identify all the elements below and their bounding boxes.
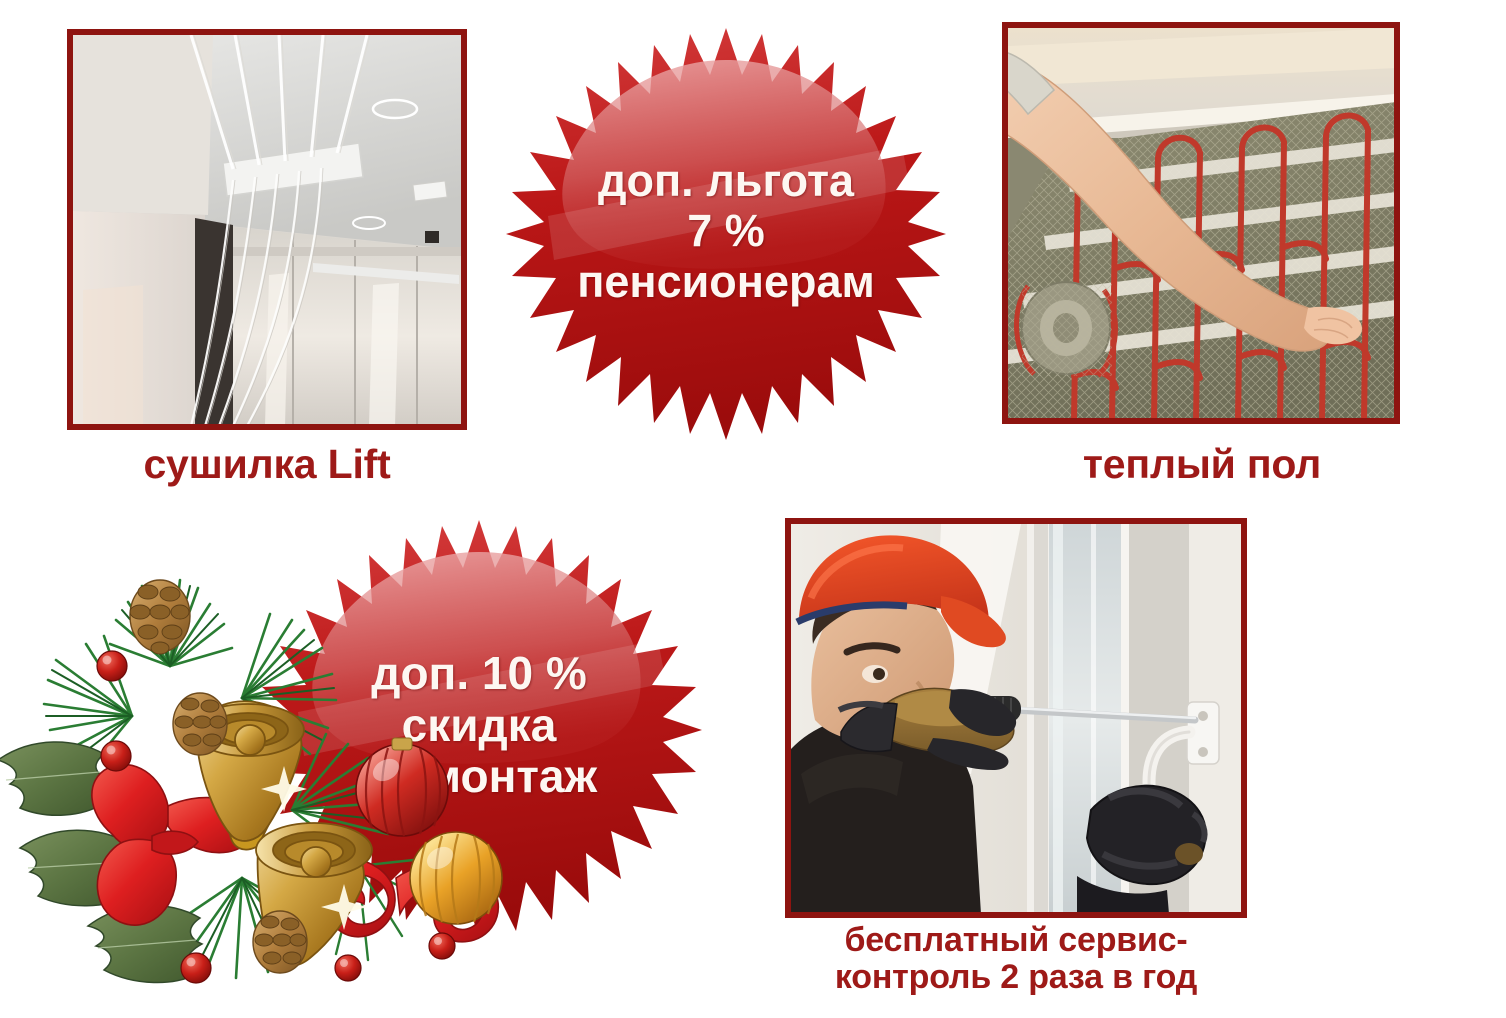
christmas-decoration [0,548,512,1018]
badge-pensioner-discount: доп. льгота 7 % пенсионерам [506,20,946,458]
photo-service-worker [785,518,1247,918]
photo-drying-rack [67,29,467,430]
underfloor-heating-illustration [1008,28,1394,418]
caption-service: бесплатный сервис- контроль 2 раза в год [785,922,1247,995]
drying-rack-illustration [73,35,461,424]
starburst-shape [506,20,946,458]
promo-poster: сушилка Lift [0,0,1506,1018]
photo-warm-floor-image [1008,28,1394,418]
caption-warm-floor: теплый пол [1002,442,1402,486]
photo-drying-rack-image [73,35,461,424]
caption-drying-rack: сушилка Lift [67,442,467,486]
photo-warm-floor [1002,22,1400,424]
christmas-decoration-illustration [0,548,512,1018]
photo-service-worker-image [791,524,1241,912]
window-service-illustration [791,524,1241,912]
